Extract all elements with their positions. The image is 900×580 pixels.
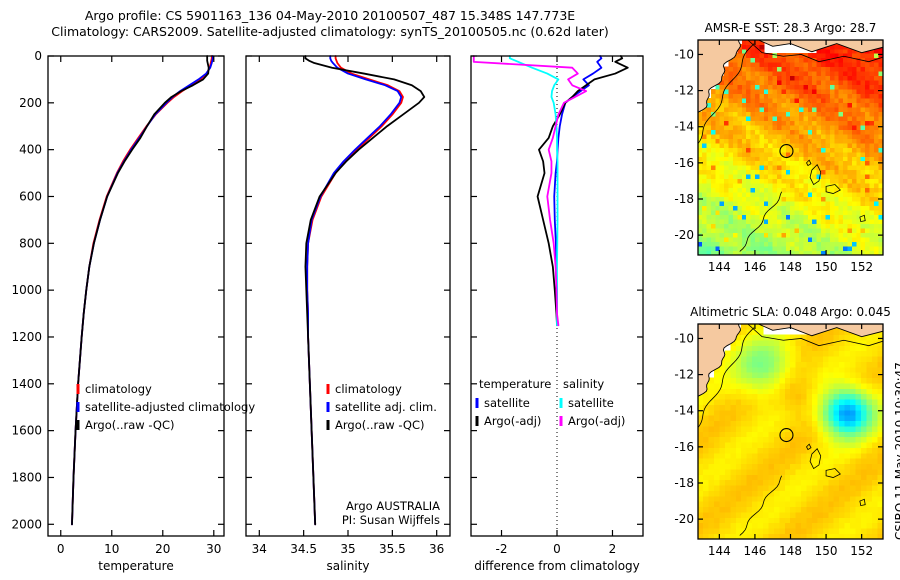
depth-tick-label: 1200	[11, 330, 42, 344]
legend-label: satellite-adjusted climatology	[85, 400, 255, 414]
map-lon-tick-label: 150	[815, 260, 838, 274]
credit-line1: Argo AUSTRALIA	[346, 499, 440, 513]
map-lon-tick-label: 146	[743, 260, 766, 274]
difference-profile-panel: -202difference from climatologytemperatu…	[465, 40, 660, 580]
x-tick-label: 0	[57, 542, 65, 556]
depth-tick-label: 1000	[11, 283, 42, 297]
legend-label: satellite	[568, 396, 614, 410]
x-axis-label: difference from climatology	[474, 559, 640, 573]
x-tick-label: -2	[496, 542, 508, 556]
map-lon-tick-label: 148	[779, 544, 802, 558]
credit-line2: PI: Susan Wijffels	[342, 513, 440, 527]
x-tick-label: 36	[429, 542, 444, 556]
plot-frame	[246, 56, 450, 536]
depth-tick-label: 0	[34, 49, 42, 63]
map-lon-tick-label: 146	[743, 544, 766, 558]
map-lat-tick-label: -20	[674, 512, 694, 526]
series-climatology	[307, 56, 403, 524]
series-salinity-satellite	[510, 56, 559, 325]
map-lat-tick-label: -14	[674, 404, 694, 418]
series-salinity-argo-adj-	[474, 56, 586, 325]
map-title: AMSR-E SST: 28.3 Argo: 28.7	[705, 21, 877, 35]
map-lon-tick-label: 152	[850, 544, 873, 558]
map-lat-tick-label: -18	[674, 192, 694, 206]
sla-field	[698, 324, 884, 540]
csiro-timestamp: CSIRO 11-May-2010 10:30:47	[893, 362, 900, 540]
salinity-profile-panel: 3434.53535.536salinityclimatologysatelli…	[240, 40, 465, 580]
x-axis-label: temperature	[98, 559, 173, 573]
map-lon-tick-label: 150	[815, 544, 838, 558]
x-tick-label: 34.5	[290, 542, 317, 556]
map-lon-tick-label: 148	[779, 260, 802, 274]
altimetric-sla-map-panel: Altimetric SLA: 0.048 Argo: 0.0451441461…	[660, 292, 900, 580]
figure-title: Argo profile: CS 5901163_136 04-May-2010…	[0, 8, 660, 40]
x-tick-label: 35	[340, 542, 355, 556]
map-lon-tick-label: 144	[708, 260, 731, 274]
series-argo-raw-qc-	[72, 56, 209, 524]
map-lat-tick-label: -20	[674, 228, 694, 242]
x-axis-label: salinity	[326, 559, 369, 573]
map-lon-tick-label: 144	[708, 544, 731, 558]
figure-title-line1: Argo profile: CS 5901163_136 04-May-2010…	[0, 8, 660, 24]
legend-label: Argo(-adj)	[484, 414, 541, 428]
sst-field	[698, 40, 884, 256]
x-tick-label: 34	[252, 542, 267, 556]
map-lat-tick-label: -10	[674, 47, 694, 61]
depth-tick-label: 800	[19, 236, 42, 250]
figure-title-line2: Climatology: CARS2009. Satellite-adjuste…	[0, 24, 660, 40]
x-tick-label: 2	[609, 542, 617, 556]
map-lat-tick-label: -18	[674, 476, 694, 490]
depth-tick-label: 600	[19, 189, 42, 203]
depth-tick-label: 1800	[11, 470, 42, 484]
map-lat-tick-label: -10	[674, 331, 694, 345]
legend-label: satellite adj. clim.	[335, 400, 437, 414]
legend-label: satellite	[484, 396, 530, 410]
map-lat-tick-label: -12	[674, 84, 694, 98]
depth-tick-label: 2000	[11, 517, 42, 531]
x-tick-label: 20	[155, 542, 170, 556]
temperature-profile-panel: 0102030020040060080010001200140016001800…	[0, 40, 240, 580]
x-tick-label: 35.5	[379, 542, 406, 556]
legend-group-title-temperature: temperature	[479, 377, 551, 391]
legend-label: climatology	[85, 382, 152, 396]
legend-label: Argo(..raw -QC)	[335, 418, 425, 432]
legend-label: Argo(..raw -QC)	[85, 418, 175, 432]
map-lat-tick-label: -16	[674, 156, 694, 170]
legend-label: Argo(-adj)	[568, 414, 625, 428]
series-satellite-adjusted-climatology	[72, 56, 213, 524]
map-title: Altimetric SLA: 0.048 Argo: 0.045	[690, 305, 891, 319]
depth-tick-label: 200	[19, 96, 42, 110]
legend-group-title-salinity: salinity	[563, 377, 604, 391]
map-lat-tick-label: -14	[674, 120, 694, 134]
depth-tick-label: 1600	[11, 424, 42, 438]
depth-tick-label: 1400	[11, 377, 42, 391]
amsre-sst-map-panel: AMSR-E SST: 28.3 Argo: 28.71441461481501…	[660, 10, 900, 295]
x-tick-label: 10	[104, 542, 119, 556]
x-tick-label: 0	[553, 542, 561, 556]
map-lon-tick-label: 152	[850, 260, 873, 274]
x-tick-label: 30	[206, 542, 221, 556]
series-argo-raw-qc-	[305, 56, 424, 524]
series-climatology	[72, 56, 212, 524]
map-lat-tick-label: -12	[674, 368, 694, 382]
map-lat-tick-label: -16	[674, 440, 694, 454]
depth-tick-label: 400	[19, 143, 42, 157]
argo-profile-figure: Argo profile: CS 5901163_136 04-May-2010…	[0, 0, 900, 580]
legend-label: climatology	[335, 382, 402, 396]
